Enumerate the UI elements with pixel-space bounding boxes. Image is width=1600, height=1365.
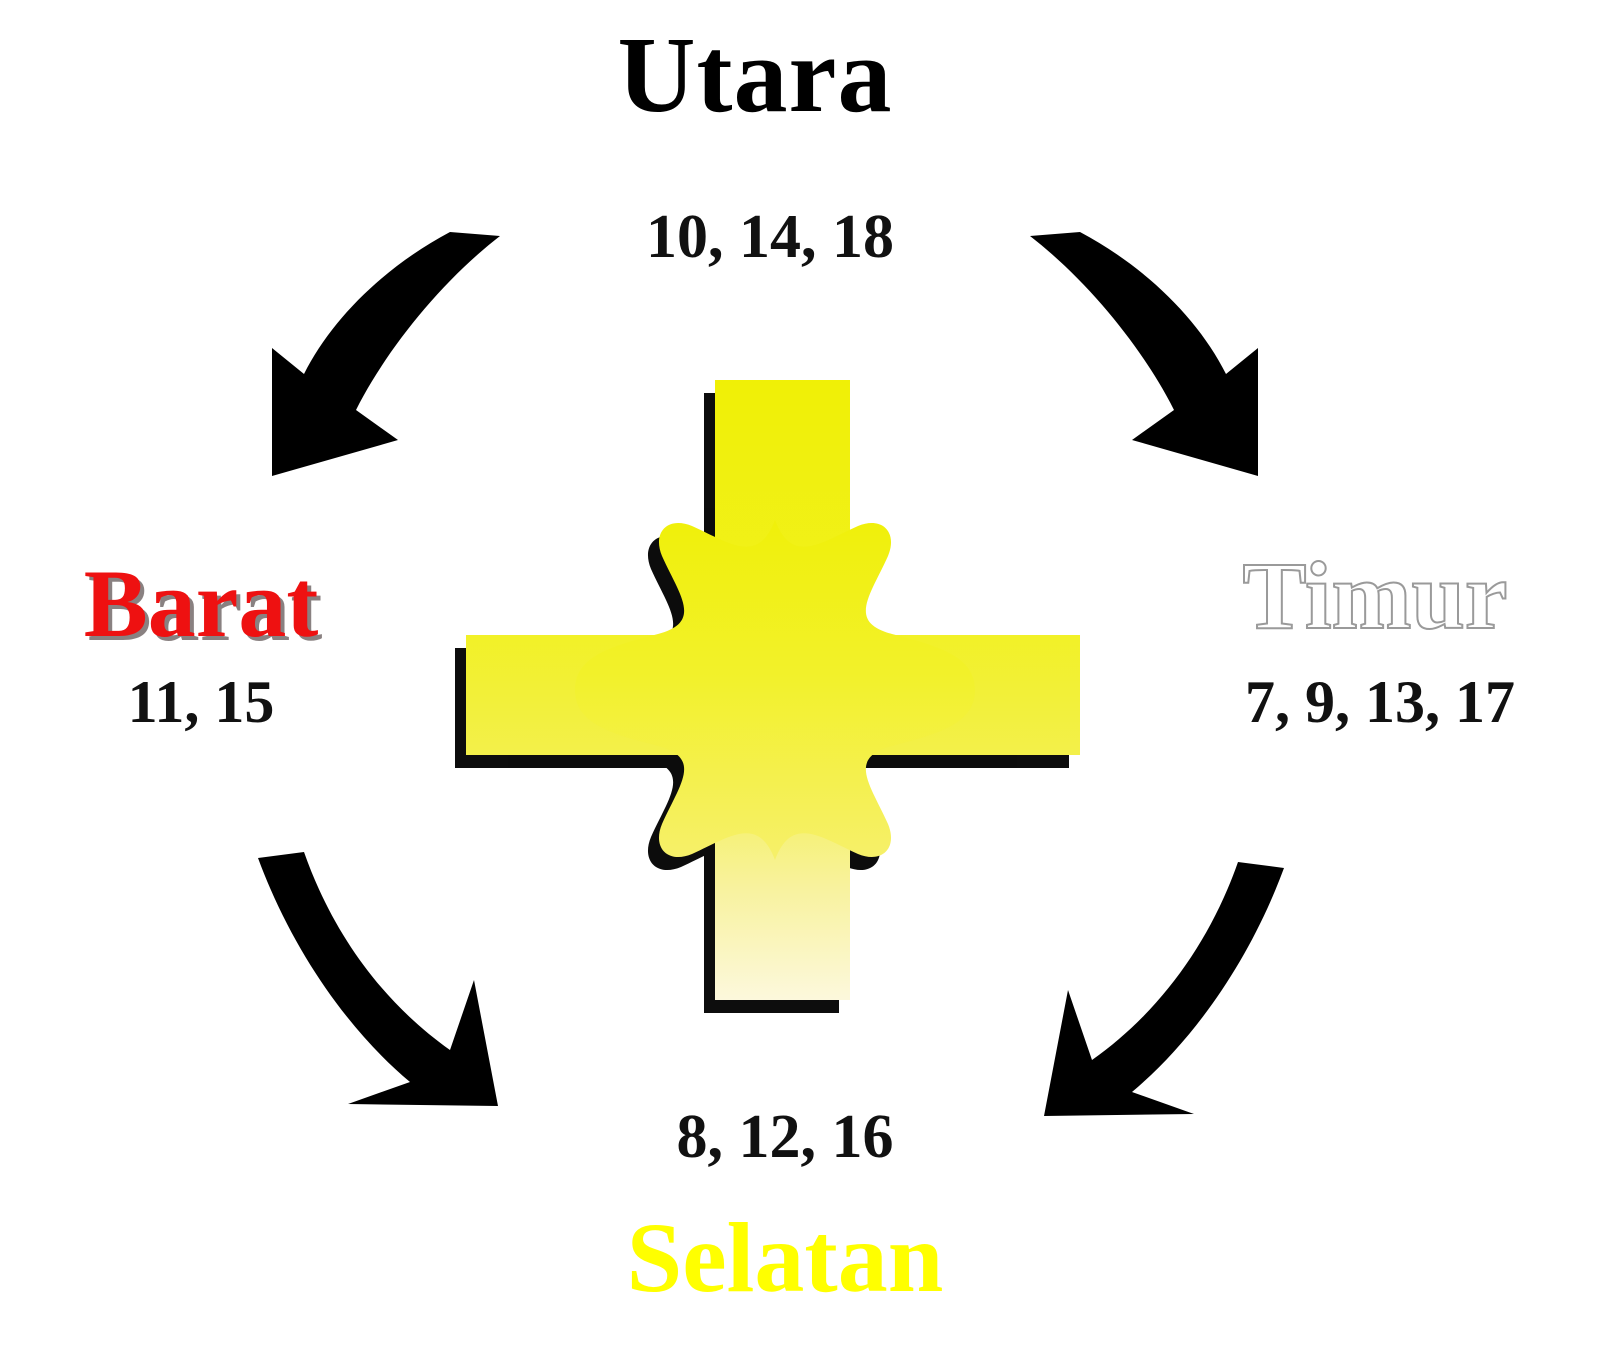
compass-diagram-canvas: Utara 10, 14, 18 Barat 11, 15 Timur 7, 9… xyxy=(0,0,1600,1365)
arrow-north-to-west-icon xyxy=(246,214,516,484)
direction-label-west: Barat xyxy=(36,556,366,652)
emblem-star-shape xyxy=(575,520,975,860)
direction-label-east: Timur xyxy=(1175,548,1575,644)
arrow-west-to-south-icon xyxy=(236,836,516,1116)
direction-label-south: Selatan xyxy=(0,1208,1570,1308)
arrow-south-to-east-icon xyxy=(1026,846,1306,1126)
direction-numbers-east: 7, 9, 13, 17 xyxy=(1180,672,1580,732)
direction-numbers-west: 11, 15 xyxy=(36,672,366,732)
direction-numbers-north: 10, 14, 18 xyxy=(0,206,1540,268)
arrow-east-to-north-icon xyxy=(1014,214,1284,484)
direction-label-north: Utara xyxy=(0,22,1510,130)
